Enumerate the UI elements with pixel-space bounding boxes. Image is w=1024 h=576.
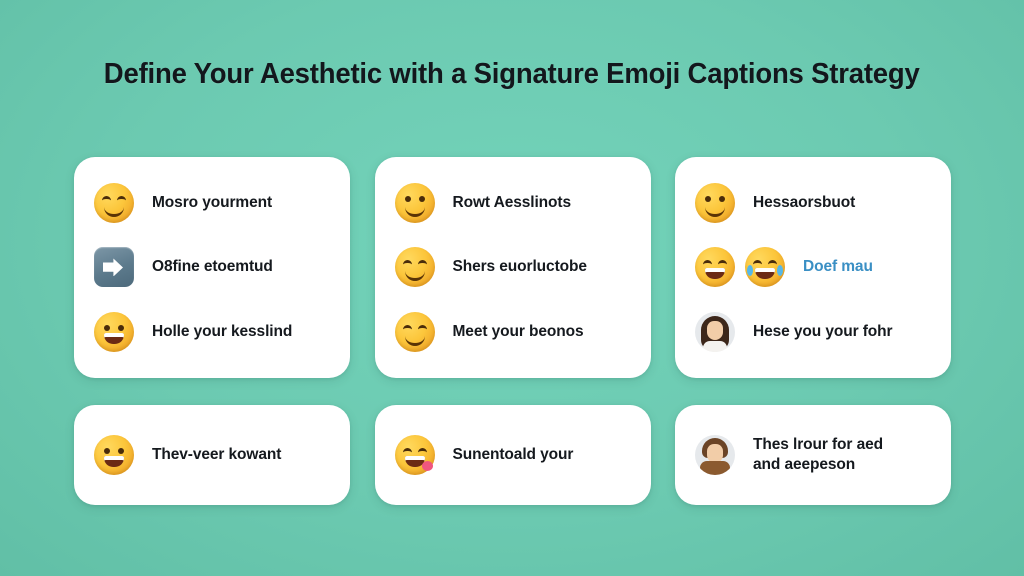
face-with-tears-of-joy-emoji [743, 245, 787, 289]
list-item[interactable]: Meet your beonos [393, 300, 635, 364]
card-4[interactable]: Thev-veer kowant [74, 405, 350, 505]
grinning-face-with-tongue-emoji [393, 433, 437, 477]
list-item[interactable]: Sunentoald your [393, 433, 635, 477]
grinning-face-with-big-eyes-emoji [92, 310, 136, 354]
card-grid: Mosro yourment O8fine etoemtud Holle you… [74, 157, 951, 505]
smiling-face-with-smiling-eyes-emoji [393, 245, 437, 289]
grinning-face-with-big-eyes-emoji [92, 433, 136, 477]
card-3[interactable]: Hessaorsbuot Doef mau Hese you your foh [675, 157, 951, 378]
list-item[interactable]: O8fine etoemtud [92, 235, 334, 299]
list-item-label-block: Thes lrour for aed and aeepeson [753, 435, 883, 475]
smiling-face-with-smiling-eyes-emoji [393, 310, 437, 354]
blue-square-arrow-emoji [92, 245, 136, 289]
list-item[interactable]: Shers euorluctobe [393, 235, 635, 299]
list-item[interactable]: Holle your kesslind [92, 300, 334, 364]
card-1[interactable]: Mosro yourment O8fine etoemtud Holle you… [74, 157, 350, 378]
list-item-label: Shers euorluctobe [453, 257, 587, 277]
list-item[interactable]: Hese you your fohr [693, 300, 935, 364]
card-5[interactable]: Sunentoald your [375, 405, 651, 505]
page-title-container: Define Your Aesthetic with a Signature E… [0, 58, 1024, 91]
list-item-label: Holle your kesslind [152, 322, 292, 342]
list-item-label: Hessaorsbuot [753, 193, 855, 213]
list-item[interactable]: Hessaorsbuot [693, 171, 935, 235]
list-item[interactable]: Thes lrour for aed and aeepeson [693, 433, 935, 477]
list-item-label-line-2: and aeepeson [753, 455, 883, 475]
man-avatar-emoji [693, 433, 737, 477]
list-item-label: Sunentoald your [453, 445, 574, 465]
list-item-label: O8fine etoemtud [152, 257, 273, 277]
list-item[interactable]: Rowt Aesslinots [393, 171, 635, 235]
card-2[interactable]: Rowt Aesslinots Shers euorluctobe Meet y… [375, 157, 651, 378]
list-item-label: Rowt Aesslinots [453, 193, 572, 213]
list-item[interactable]: Doef mau [693, 235, 935, 299]
list-item[interactable]: Thev-veer kowant [92, 433, 334, 477]
page-title: Define Your Aesthetic with a Signature E… [104, 58, 920, 91]
woman-avatar-emoji [693, 310, 737, 354]
list-item-label: Hese you your fohr [753, 322, 892, 342]
card-row-top: Mosro yourment O8fine etoemtud Holle you… [74, 157, 951, 378]
grinning-face-with-smiling-eyes-emoji [693, 245, 737, 289]
card-row-bottom: Thev-veer kowant Sunentoald your [74, 405, 951, 505]
poster-canvas: Define Your Aesthetic with a Signature E… [0, 0, 1024, 576]
list-item-label: Mosro yourment [152, 193, 272, 213]
smiling-face-with-smiling-eyes-emoji [92, 181, 136, 225]
card-6[interactable]: Thes lrour for aed and aeepeson [675, 405, 951, 505]
slightly-smiling-face-emoji [393, 181, 437, 225]
list-item-label: Doef mau [803, 257, 873, 277]
list-item[interactable]: Mosro yourment [92, 171, 334, 235]
list-item-label: Meet your beonos [453, 322, 584, 342]
slightly-smiling-face-emoji [693, 181, 737, 225]
list-item-label: Thev-veer kowant [152, 445, 281, 465]
list-item-label-line-1: Thes lrour for aed [753, 435, 883, 455]
